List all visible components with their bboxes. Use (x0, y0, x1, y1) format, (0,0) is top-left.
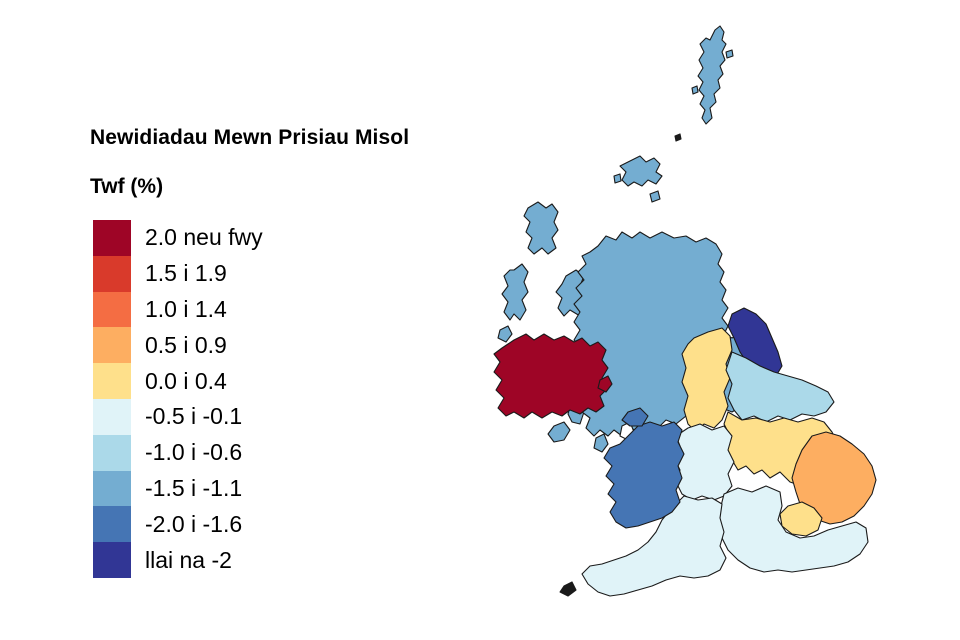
figure-title: Newidiadau Mewn Prisiau Misol (90, 126, 409, 150)
region-northern-ireland (494, 334, 608, 418)
legend-label: 0.0 i 0.4 (145, 370, 227, 393)
legend-swatch (93, 471, 131, 507)
legend-label: 1.0 i 1.4 (145, 298, 227, 321)
region-shetland (698, 26, 726, 124)
legend-label: -1.0 i -0.6 (145, 441, 242, 464)
legend-label: 2.0 neu fwy (145, 226, 263, 249)
region-shetland-islet-2 (726, 50, 733, 58)
legend-label: 0.5 i 0.9 (145, 334, 227, 357)
region-fair-isle (675, 134, 681, 141)
legend-item: 0.5 i 0.9 (93, 327, 323, 363)
region-shetland-islet (692, 86, 698, 94)
legend-swatch (93, 327, 131, 363)
legend-swatch (93, 506, 131, 542)
legend-swatch (93, 435, 131, 471)
legend-item: 1.0 i 1.4 (93, 292, 323, 328)
legend-swatch (93, 292, 131, 328)
legend-label: -1.5 i -1.1 (145, 477, 242, 500)
region-outer-hebrides-lewis (524, 202, 558, 254)
legend: 2.0 neu fwy 1.5 i 1.9 1.0 i 1.4 0.5 i 0.… (93, 220, 323, 578)
legend-swatch (93, 542, 131, 578)
region-outer-hebrides-uist (502, 264, 528, 320)
legend-title: Twf (%) (90, 175, 163, 199)
legend-item: llai na -2 (93, 542, 323, 578)
legend-item: 0.0 i 0.4 (93, 363, 323, 399)
region-islay (548, 422, 570, 442)
legend-swatch (93, 363, 131, 399)
legend-item: -0.5 i -0.1 (93, 399, 323, 435)
legend-label: -0.5 i -0.1 (145, 405, 242, 428)
legend-swatch (93, 256, 131, 292)
region-orkney (620, 156, 662, 186)
region-outer-hebrides-barra (498, 326, 512, 342)
region-arran (594, 434, 608, 452)
region-orkney-islet (614, 174, 621, 183)
region-west-midlands (674, 424, 734, 500)
legend-label: llai na -2 (145, 549, 232, 572)
region-wales (604, 422, 684, 528)
region-scilly-isles (560, 582, 576, 596)
legend-swatch (93, 220, 131, 256)
region-orkney-islet-2 (650, 191, 660, 202)
legend-label: -2.0 i -1.6 (145, 513, 242, 536)
legend-swatch (93, 399, 131, 435)
map-figure: Newidiadau Mewn Prisiau Misol Twf (%) 2.… (0, 0, 960, 640)
legend-item: 2.0 neu fwy (93, 220, 323, 256)
region-north-west (682, 328, 732, 432)
legend-item: -2.0 i -1.6 (93, 506, 323, 542)
uk-choropleth-map (470, 8, 950, 633)
legend-label: 1.5 i 1.9 (145, 262, 227, 285)
legend-item: -1.0 i -0.6 (93, 435, 323, 471)
legend-item: 1.5 i 1.9 (93, 256, 323, 292)
legend-item: -1.5 i -1.1 (93, 471, 323, 507)
